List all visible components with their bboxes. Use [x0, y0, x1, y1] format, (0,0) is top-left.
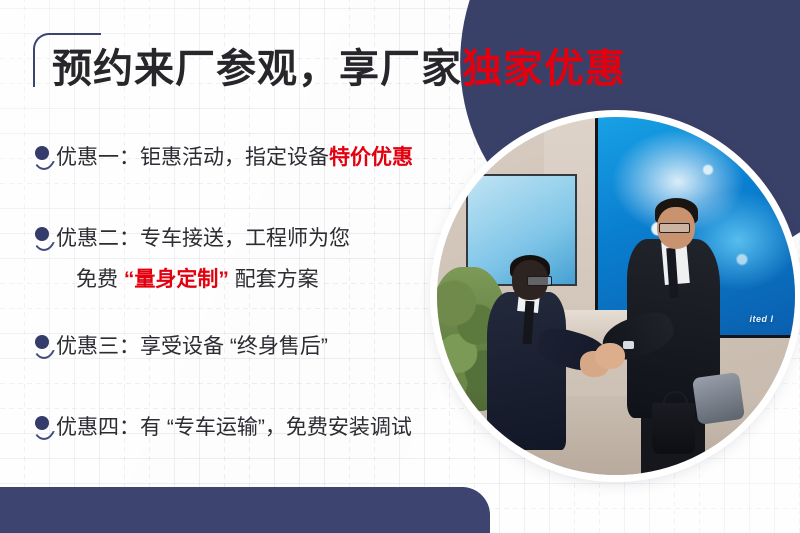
benefit-text-1: 优惠一：钜惠活动，指定设备特价优惠	[56, 138, 413, 179]
bullet-dot-arc-icon	[30, 144, 56, 170]
benefit-text-3: 优惠三：享受设备 “终身售后”	[56, 327, 328, 368]
right-man-glasses-icon	[659, 223, 690, 234]
bullet-dot-arc-icon	[30, 333, 56, 359]
headline-plain: 预约来厂参观，享厂家	[52, 47, 462, 91]
benefits-list: 优惠一：钜惠活动，指定设备特价优惠 优惠二：专车接送，工程师为您 免费 “量身定…	[30, 138, 450, 475]
benefit-2-plain: 优惠二：专车接送，工程师为您	[56, 227, 350, 250]
list-item: 优惠二：专车接送，工程师为您 免费 “量身定制” 配套方案	[30, 219, 450, 301]
benefit-text-4: 优惠四：有 “专车运输”，免费安装调试	[56, 408, 412, 449]
benefit-2-line2: 免费 “量身定制” 配套方案	[56, 260, 350, 301]
handshake-photo: ited I ng United	[437, 117, 795, 475]
list-item: 优惠三：享受设备 “终身售后”	[30, 327, 450, 368]
promo-banner: 预约来厂参观，享厂家独家优惠 优惠一：钜惠活动，指定设备特价优惠 优惠二：专车接…	[0, 0, 800, 533]
headline-accent: 独家优惠	[462, 47, 626, 91]
benefit-2-line2-accent: “量身定制”	[124, 268, 229, 291]
list-item: 优惠四：有 “专车运输”，免费安装调试	[30, 408, 450, 449]
grey-bag	[692, 372, 745, 425]
benefit-2-line2-plain: 免费	[76, 268, 124, 291]
decorative-bar-bottom-left	[0, 487, 490, 533]
briefcase	[652, 403, 695, 453]
wristwatch	[623, 341, 634, 350]
benefit-1-accent: 特价优惠	[329, 146, 413, 169]
benefit-2-line2-tail: 配套方案	[229, 268, 319, 291]
benefit-1-plain: 优惠一：钜惠活动，指定设备	[56, 146, 329, 169]
benefit-text-2: 优惠二：专车接送，工程师为您 免费 “量身定制” 配套方案	[56, 219, 350, 301]
bullet-dot-arc-icon	[30, 414, 56, 440]
page-title: 预约来厂参观，享厂家独家优惠	[52, 44, 626, 94]
bullet-dot-arc-icon	[30, 225, 56, 251]
left-man-glasses-icon	[527, 276, 552, 286]
handshake-hand-right	[595, 343, 625, 370]
list-item: 优惠一：钜惠活动，指定设备特价优惠	[30, 138, 450, 179]
photo-scene: ited I ng United	[437, 117, 795, 475]
screen-label-right: ited I	[750, 314, 774, 324]
